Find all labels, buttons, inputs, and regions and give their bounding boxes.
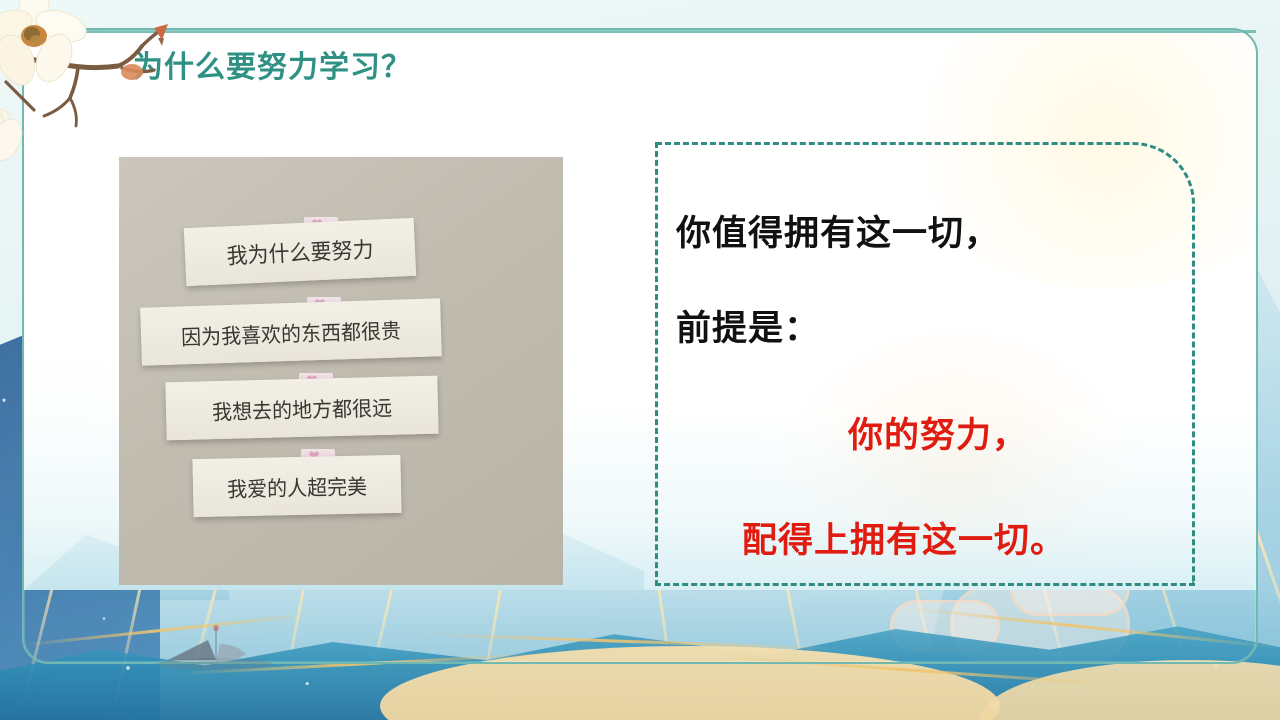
magnolia-branch-icon (0, 0, 212, 164)
quote-line-3-highlight: 你的努力， (848, 407, 1028, 458)
quote-line-1: 你值得拥有这一切， (676, 205, 1000, 256)
handwritten-notes-photo: 我为什么要努力 因为我喜欢的东西都很贵 我想去的地方都很远 我爱的人超完美 (119, 157, 563, 585)
note-strip: 因为我喜欢的东西都很贵 (140, 298, 442, 365)
slide-canvas: 为什么要努力学习？ (0, 0, 1280, 720)
note-strip: 我想去的地方都很远 (165, 376, 438, 441)
note-strip-text: 我爱的人超完美 (227, 469, 368, 502)
note-strip-text: 我想去的地方都很远 (212, 391, 393, 426)
quote-line-2: 前提是： (676, 300, 820, 351)
note-strip-text: 因为我喜欢的东西都很贵 (181, 313, 402, 350)
sand-arc-decoration (980, 660, 1280, 720)
note-strip: 我爱的人超完美 (192, 455, 401, 517)
note-strip-text: 我为什么要努力 (226, 233, 374, 271)
quote-line-4-highlight: 配得上拥有这一切。 (742, 512, 1066, 563)
note-strip: 我为什么要努力 (184, 218, 416, 286)
